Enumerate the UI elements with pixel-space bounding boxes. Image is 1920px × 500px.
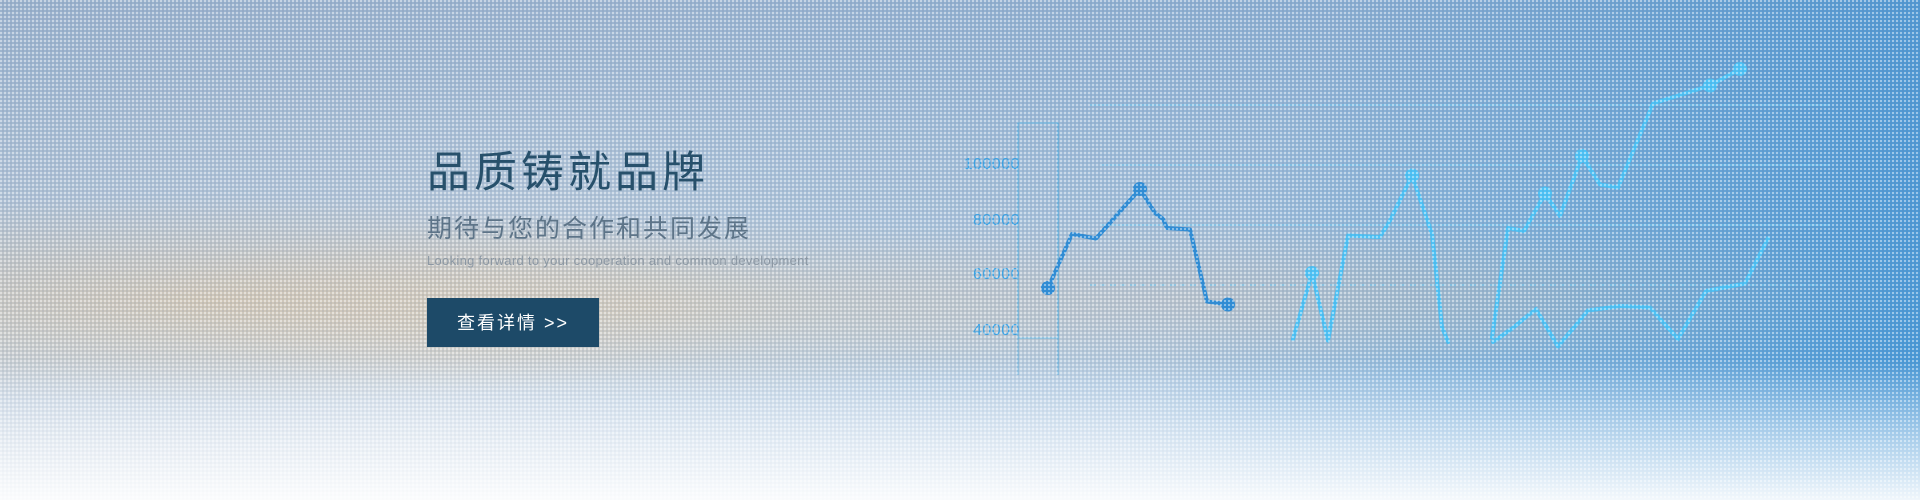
chart-frame-box xyxy=(1018,123,1058,375)
data-point-marker xyxy=(1405,169,1419,183)
hero-banner: 100000 80000 60000 40000 品质铸就品牌 期待与您的合作和… xyxy=(0,0,1920,500)
series-line-series-4-light xyxy=(1493,239,1768,347)
data-point-marker xyxy=(1305,266,1319,280)
subtitle: 期待与您的合作和共同发展 xyxy=(427,215,987,244)
view-details-button[interactable]: 查看详情 >> xyxy=(427,298,599,347)
data-point-marker xyxy=(1041,281,1055,295)
data-point-marker xyxy=(1575,149,1589,163)
subtitle-english: Looking forward to your cooperation and … xyxy=(427,253,987,268)
chart-gridlines xyxy=(1090,105,1830,285)
data-point-marker xyxy=(1133,182,1147,196)
series-line-series-3-light xyxy=(1492,69,1740,338)
chart-frame-rect xyxy=(1018,123,1058,338)
data-point-marker xyxy=(1733,62,1747,76)
data-point-marker xyxy=(1221,298,1235,312)
series-line-series-1-dark xyxy=(1048,189,1228,305)
series-line-series-2-light xyxy=(1293,176,1448,343)
hero-copy-block: 品质铸就品牌 期待与您的合作和共同发展 Looking forward to y… xyxy=(427,150,987,347)
data-point-marker xyxy=(1703,79,1717,93)
data-point-marker xyxy=(1538,187,1552,201)
page-title: 品质铸就品牌 xyxy=(427,150,987,197)
chart-series xyxy=(1041,62,1768,347)
